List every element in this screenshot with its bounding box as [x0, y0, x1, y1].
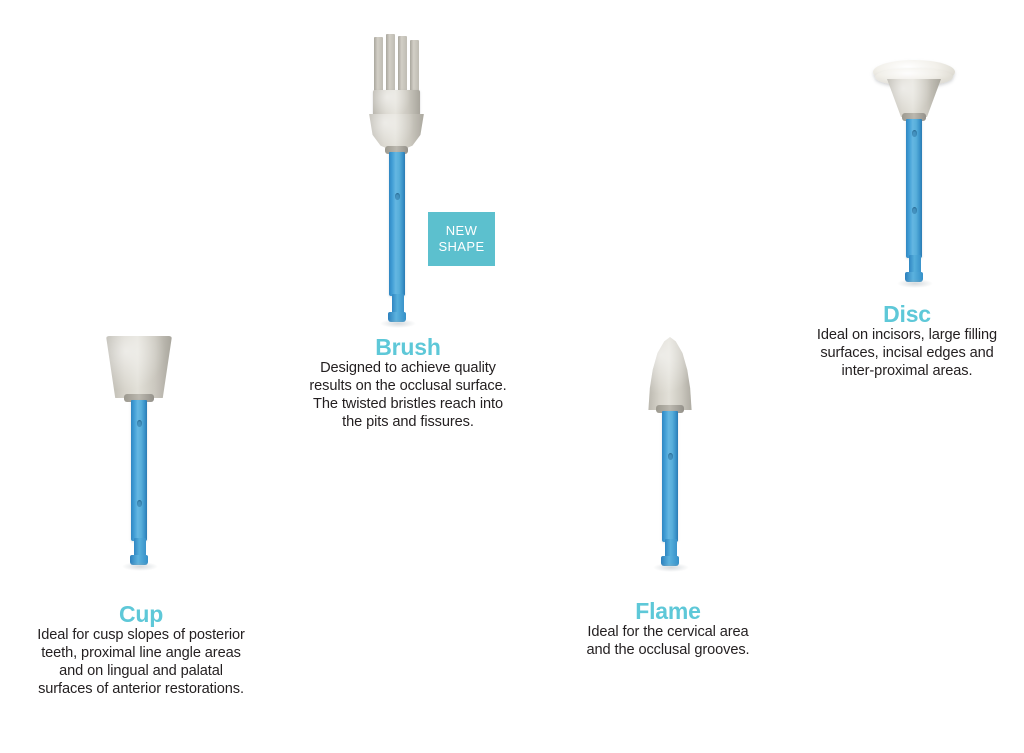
- cup-drop-shadow: [122, 562, 158, 571]
- brush-bristle-block: [373, 90, 420, 118]
- flame-shank-dimple: [668, 453, 673, 460]
- caption-disc: Disc Ideal on incisors, large filling su…: [790, 302, 1024, 381]
- disc-shank: [906, 119, 922, 258]
- product-title-flame: Flame: [560, 599, 776, 623]
- caption-cup: Cup Ideal for cusp slopes of posterior t…: [14, 602, 268, 699]
- product-description-cup: Ideal for cusp slopes of posterior teeth…: [14, 627, 268, 699]
- brush-shank: [389, 152, 405, 296]
- cup-head: [106, 336, 172, 398]
- product-title-cup: Cup: [14, 602, 268, 626]
- product-image-disc: [855, 55, 975, 300]
- brush-skirt: [368, 114, 425, 150]
- new-shape-badge-line1: NEW: [446, 223, 478, 239]
- disc-shank-dimple: [912, 130, 917, 137]
- product-image-flame: [610, 333, 730, 573]
- product-image-cup: [80, 330, 200, 570]
- caption-brush: Brush Designed to achieve quality result…: [280, 335, 536, 432]
- disc-drop-shadow: [897, 279, 933, 288]
- new-shape-badge: NEW SHAPE: [428, 212, 495, 266]
- product-description-brush: Designed to achieve quality results on t…: [280, 360, 536, 432]
- caption-flame: Flame Ideal for the cervical area and th…: [560, 599, 776, 660]
- new-shape-badge-line2: SHAPE: [438, 239, 484, 255]
- product-image-brush: [340, 30, 460, 315]
- disc-neck: [887, 79, 941, 117]
- flame-drop-shadow: [653, 563, 689, 572]
- cup-shank-dimple: [137, 500, 142, 507]
- flame-shank: [662, 411, 678, 542]
- flame-head: [646, 337, 694, 410]
- brush-shank-dimple: [395, 193, 400, 200]
- cup-shank-dimple: [137, 420, 142, 427]
- product-description-flame: Ideal for the cervical area and the occl…: [560, 624, 776, 660]
- disc-shank-dimple: [912, 207, 917, 214]
- brush-drop-shadow: [380, 319, 416, 328]
- brush-shank-step: [392, 294, 404, 314]
- product-lineup-figure: NEW SHAPE Brush Designed to achieve qual…: [0, 0, 1024, 753]
- product-title-brush: Brush: [280, 335, 536, 359]
- product-description-disc: Ideal on incisors, large filling surface…: [790, 327, 1024, 381]
- product-title-disc: Disc: [790, 302, 1024, 326]
